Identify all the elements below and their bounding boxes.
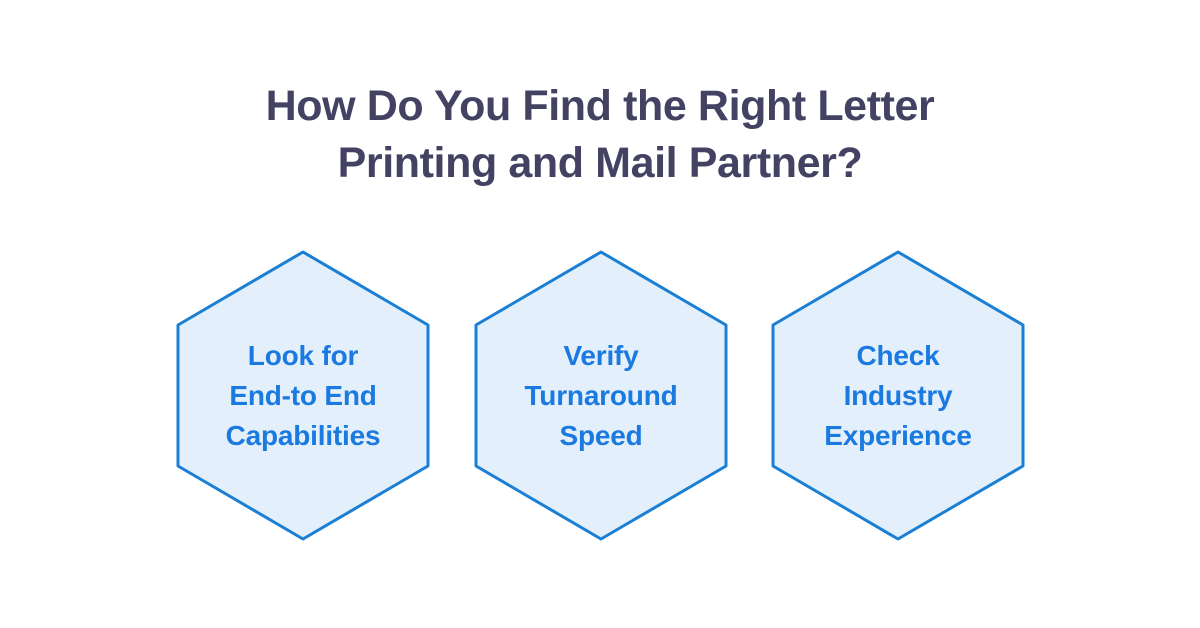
hexagon-label-3-line-3: Experience [824, 416, 971, 456]
hexagon-label-2-line-1: Verify [563, 336, 638, 376]
hexagon-label-2-line-2: Turnaround [524, 376, 677, 416]
hexagon-label-1-line-2: End-to End [229, 376, 376, 416]
hexagon-label-2: Verify Turnaround Speed [472, 248, 730, 543]
hexagon-label-2-line-3: Speed [559, 416, 642, 456]
hexagon-label-3-line-1: Check [856, 336, 939, 376]
hexagon-label-1: Look for End-to End Capabilities [174, 248, 432, 543]
hexagon-card-3: Check Industry Experience [769, 248, 1027, 543]
page-title-line-2: Printing and Mail Partner? [0, 135, 1200, 192]
page-title: How Do You Find the Right Letter Printin… [0, 78, 1200, 192]
hexagon-card-2: Verify Turnaround Speed [472, 248, 730, 543]
hexagon-label-3-line-2: Industry [844, 376, 953, 416]
hexagon-card-1: Look for End-to End Capabilities [174, 248, 432, 543]
hexagon-row: Look for End-to End Capabilities Verify … [0, 248, 1200, 543]
hexagon-label-3: Check Industry Experience [769, 248, 1027, 543]
page-title-line-1: How Do You Find the Right Letter [0, 78, 1200, 135]
hexagon-label-1-line-1: Look for [248, 336, 358, 376]
infographic-canvas: How Do You Find the Right Letter Printin… [0, 0, 1200, 628]
hexagon-label-1-line-3: Capabilities [226, 416, 381, 456]
